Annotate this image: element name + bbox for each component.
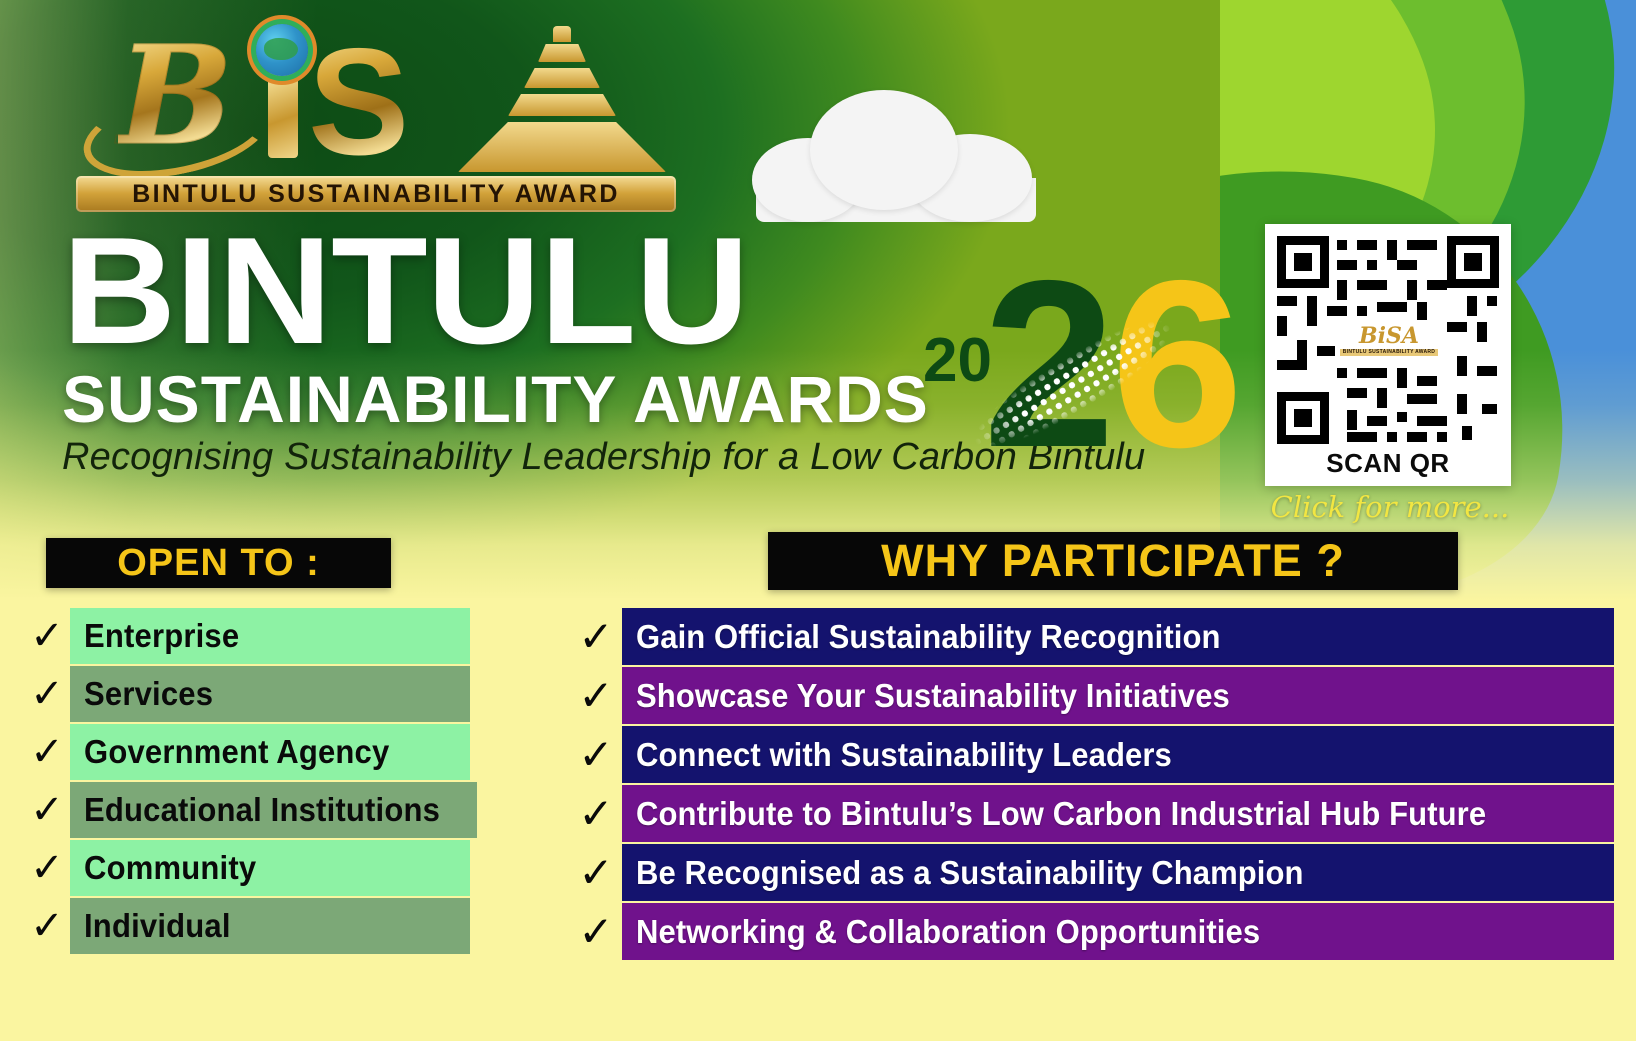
list-item[interactable]: ✓ Gain Official Sustainability Recogniti… — [570, 608, 1614, 665]
list-item-label: Individual — [84, 907, 231, 945]
list-item-label: Networking & Collaboration Opportunities — [636, 913, 1260, 951]
list-item[interactable]: ✓ Enterprise — [24, 608, 470, 664]
list-item[interactable]: ✓ Individual — [24, 898, 470, 954]
why-participate-list: ✓ Gain Official Sustainability Recogniti… — [570, 608, 1614, 962]
section-header-open-to-label: OPEN TO : — [117, 542, 320, 585]
list-item-label: Gain Official Sustainability Recognition — [636, 618, 1221, 656]
list-item-label: Community — [84, 849, 256, 887]
qr-code-card[interactable]: BiSA BINTULU SUSTAINABILITY AWARD SCAN Q… — [1265, 224, 1511, 486]
click-for-more-link[interactable]: Click for more... — [1265, 490, 1515, 524]
check-icon: ✓ — [570, 667, 622, 724]
logo-letter-b: B — [118, 28, 233, 164]
bisa-logo: B S BINTULU SUSTAINABILITY AWARD — [72, 22, 682, 214]
check-icon: ✓ — [24, 666, 70, 722]
list-item[interactable]: ✓ Contribute to Bintulu’s Low Carbon Ind… — [570, 785, 1614, 842]
section-header-why-participate-label: WHY PARTICIPATE ? — [881, 535, 1345, 587]
poster-root: B S BINTULU SUSTAINABILITY AWARD BINTULU… — [0, 0, 1636, 1041]
list-item[interactable]: ✓ Networking & Collaboration Opportuniti… — [570, 903, 1614, 960]
cloud-icon — [752, 90, 1040, 222]
open-to-list: ✓ Enterprise ✓ Services ✓ Government Age… — [24, 608, 470, 956]
list-item[interactable]: ✓ Government Agency — [24, 724, 470, 780]
list-item-label: Showcase Your Sustainability Initiatives — [636, 677, 1230, 715]
logo-ribbon-text: BINTULU SUSTAINABILITY AWARD — [132, 180, 620, 209]
list-item[interactable]: ✓ Connect with Sustainability Leaders — [570, 726, 1614, 783]
check-icon: ✓ — [24, 840, 70, 896]
list-item[interactable]: ✓ Community — [24, 840, 470, 896]
section-header-open-to: OPEN TO : — [46, 538, 391, 588]
tower-icon — [452, 26, 672, 172]
list-item-label: Contribute to Bintulu’s Low Carbon Indus… — [636, 795, 1486, 833]
list-item[interactable]: ✓ Services — [24, 666, 470, 722]
year-prefix-20: 20 — [923, 330, 992, 392]
year-digit-6: 6 — [1111, 246, 1243, 484]
qr-code-image[interactable]: BiSA BINTULU SUSTAINABILITY AWARD — [1277, 236, 1499, 444]
check-icon: ✓ — [24, 724, 70, 780]
scan-qr-label: SCAN QR — [1277, 448, 1499, 479]
list-item-label: Connect with Sustainability Leaders — [636, 736, 1172, 774]
check-icon: ✓ — [24, 782, 70, 838]
check-icon: ✓ — [570, 844, 622, 901]
list-item[interactable]: ✓ Educational Institutions — [24, 782, 470, 838]
qr-embedded-logo: BiSA BINTULU SUSTAINABILITY AWARD — [1335, 320, 1443, 360]
logo-letter-s: S — [308, 26, 409, 178]
qr-logo-subtext: BINTULU SUSTAINABILITY AWARD — [1340, 349, 1438, 356]
logo-letter-i-stem — [268, 72, 298, 158]
section-header-why-participate: WHY PARTICIPATE ? — [768, 532, 1458, 590]
logo-lettermarks: B S — [72, 22, 682, 172]
list-item-label: Be Recognised as a Sustainability Champi… — [636, 854, 1304, 892]
qr-logo-wordmark: BiSA — [1359, 325, 1419, 347]
check-icon: ✓ — [24, 608, 70, 664]
globe-icon — [256, 24, 308, 76]
list-item-label: Government Agency — [84, 733, 389, 771]
year-badge: 2 6 20 — [905, 240, 1225, 490]
list-item[interactable]: ✓ Showcase Your Sustainability Initiativ… — [570, 667, 1614, 724]
list-item-label: Educational Institutions — [84, 791, 440, 829]
year-digit-2: 2 — [983, 246, 1115, 484]
list-item-label: Services — [84, 675, 213, 713]
list-item-label: Enterprise — [84, 617, 239, 655]
list-item[interactable]: ✓ Be Recognised as a Sustainability Cham… — [570, 844, 1614, 901]
check-icon: ✓ — [570, 785, 622, 842]
check-icon: ✓ — [570, 726, 622, 783]
check-icon: ✓ — [570, 903, 622, 960]
check-icon: ✓ — [24, 898, 70, 954]
check-icon: ✓ — [570, 608, 622, 665]
